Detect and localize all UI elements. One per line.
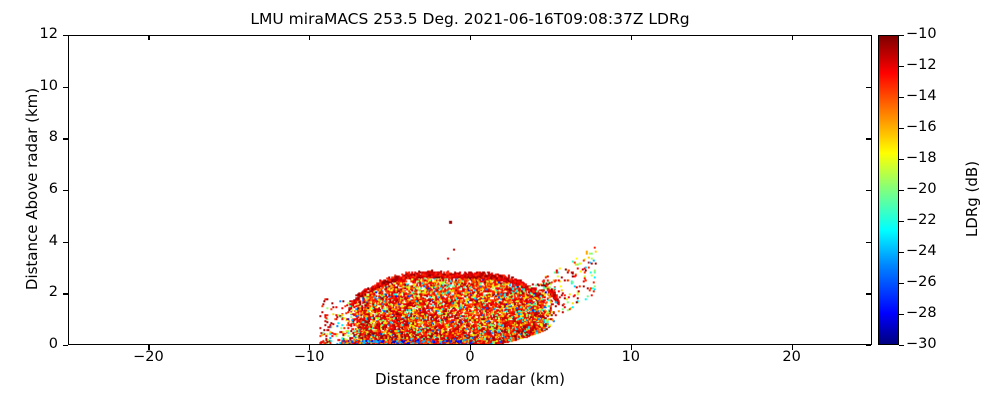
colorbar-tick-label: −22 xyxy=(906,212,937,228)
x-tick-top xyxy=(470,35,471,40)
colorbar-tick-label: −10 xyxy=(906,26,937,42)
colorbar-tick xyxy=(899,283,904,284)
y-tick-right xyxy=(866,345,871,346)
x-tick-label: 0 xyxy=(435,349,505,365)
colorbar-tick xyxy=(899,35,904,36)
y-tick-right xyxy=(866,242,871,243)
y-tick xyxy=(63,138,68,139)
x-tick-label: 10 xyxy=(596,349,666,365)
y-axis-label: Distance Above radar (km) xyxy=(23,49,41,329)
colorbar-tick xyxy=(899,190,904,191)
colorbar-tick xyxy=(899,128,904,129)
colorbar-tick-label: −14 xyxy=(906,88,937,104)
x-axis-label: Distance from radar (km) xyxy=(68,370,872,388)
y-tick-label: 0 xyxy=(18,336,58,352)
y-tick xyxy=(63,293,68,294)
x-tick-top xyxy=(309,35,310,40)
y-tick-right xyxy=(866,293,871,294)
colorbar-tick-label: −18 xyxy=(906,150,937,166)
x-tick-label: −20 xyxy=(113,349,183,365)
y-tick xyxy=(63,345,68,346)
colorbar-tick xyxy=(899,97,904,98)
x-tick-label: 20 xyxy=(757,349,827,365)
x-tick-top xyxy=(792,35,793,40)
colorbar-tick-label: −24 xyxy=(906,243,937,259)
y-tick-right xyxy=(866,190,871,191)
scatter-plot-canvas xyxy=(69,36,871,344)
x-tick-top xyxy=(148,35,149,40)
y-tick-right xyxy=(866,35,871,36)
colorbar-label: LDRg (dB) xyxy=(963,99,981,299)
figure: LMU miraMACS 253.5 Deg. 2021-06-16T09:08… xyxy=(0,0,1000,400)
plot-axes xyxy=(68,35,872,345)
colorbar-tick-label: −30 xyxy=(906,336,937,352)
y-tick xyxy=(63,190,68,191)
y-tick-label: 12 xyxy=(18,26,58,42)
colorbar xyxy=(878,35,899,345)
colorbar-tick xyxy=(899,159,904,160)
colorbar-tick-label: −20 xyxy=(906,181,937,197)
colorbar-tick xyxy=(899,221,904,222)
colorbar-tick xyxy=(899,66,904,67)
y-tick-right xyxy=(866,87,871,88)
y-tick xyxy=(63,35,68,36)
colorbar-tick-label: −26 xyxy=(906,274,937,290)
colorbar-tick-label: −16 xyxy=(906,119,937,135)
x-tick-label: −10 xyxy=(274,349,344,365)
colorbar-tick xyxy=(899,314,904,315)
colorbar-tick-label: −12 xyxy=(906,57,937,73)
x-tick-top xyxy=(631,35,632,40)
colorbar-tick xyxy=(899,252,904,253)
y-tick xyxy=(63,87,68,88)
y-tick xyxy=(63,242,68,243)
y-tick-right xyxy=(866,138,871,139)
chart-title: LMU miraMACS 253.5 Deg. 2021-06-16T09:08… xyxy=(68,10,872,28)
colorbar-tick xyxy=(899,345,904,346)
colorbar-tick-label: −28 xyxy=(906,305,937,321)
